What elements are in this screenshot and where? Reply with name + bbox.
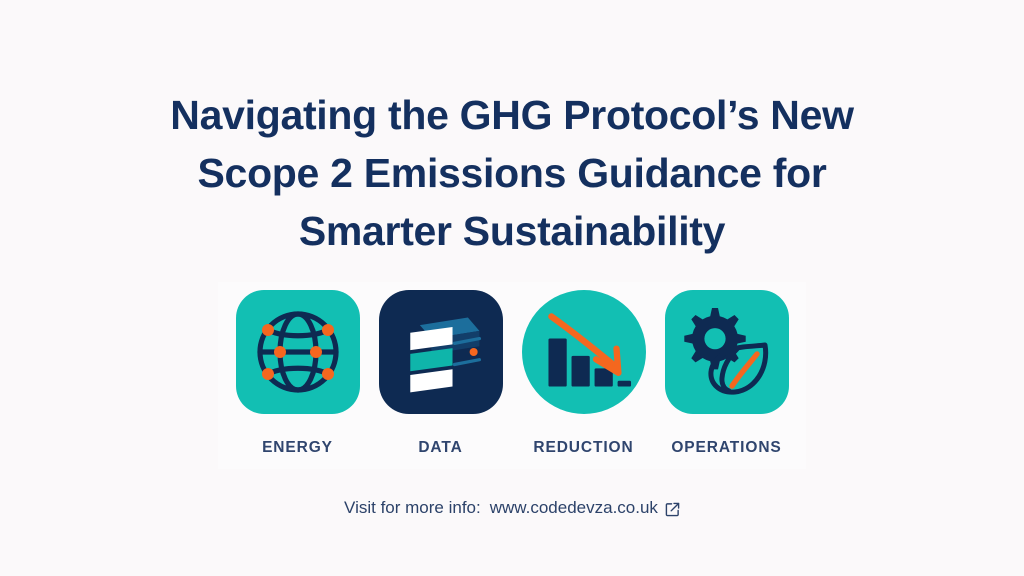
reduction-tile — [522, 290, 646, 414]
pillar-label-operations: OPERATIONS — [671, 439, 781, 457]
footer-url-link[interactable]: www.codedevza.co.uk — [490, 498, 658, 518]
energy-tile — [236, 290, 360, 414]
gear-leaf-icon — [677, 302, 777, 402]
pillar-label-reduction: REDUCTION — [533, 439, 633, 457]
operations-tile — [665, 290, 789, 414]
external-link-icon[interactable] — [665, 502, 680, 517]
data-tile — [379, 290, 503, 414]
pillar-label-energy: ENERGY — [262, 439, 333, 457]
pillar-card: ENERGY — [218, 282, 806, 469]
title-line-1: Navigating the GHG Protocol’s New — [112, 86, 912, 144]
declining-bar-chart-arrow-icon — [536, 304, 632, 400]
pillar-item-reduction[interactable]: REDUCTION — [514, 290, 653, 457]
database-stack-icon — [393, 304, 489, 400]
footer: Visit for more info: www.codedevza.co.uk — [344, 498, 680, 518]
pillar-item-data[interactable]: DATA — [371, 290, 510, 457]
page-title: Navigating the GHG Protocol’s New Scope … — [112, 86, 912, 260]
pillar-item-energy[interactable]: ENERGY — [228, 290, 367, 457]
title-line-2: Scope 2 Emissions Guidance for — [112, 144, 912, 202]
footer-lead-text: Visit for more info: — [344, 498, 481, 518]
pillar-icon-row: ENERGY — [228, 290, 796, 457]
pillar-label-data: DATA — [418, 439, 462, 457]
pillar-item-operations[interactable]: OPERATIONS — [657, 290, 796, 457]
globe-network-icon — [248, 302, 348, 402]
title-line-3: Smarter Sustainability — [112, 202, 912, 260]
